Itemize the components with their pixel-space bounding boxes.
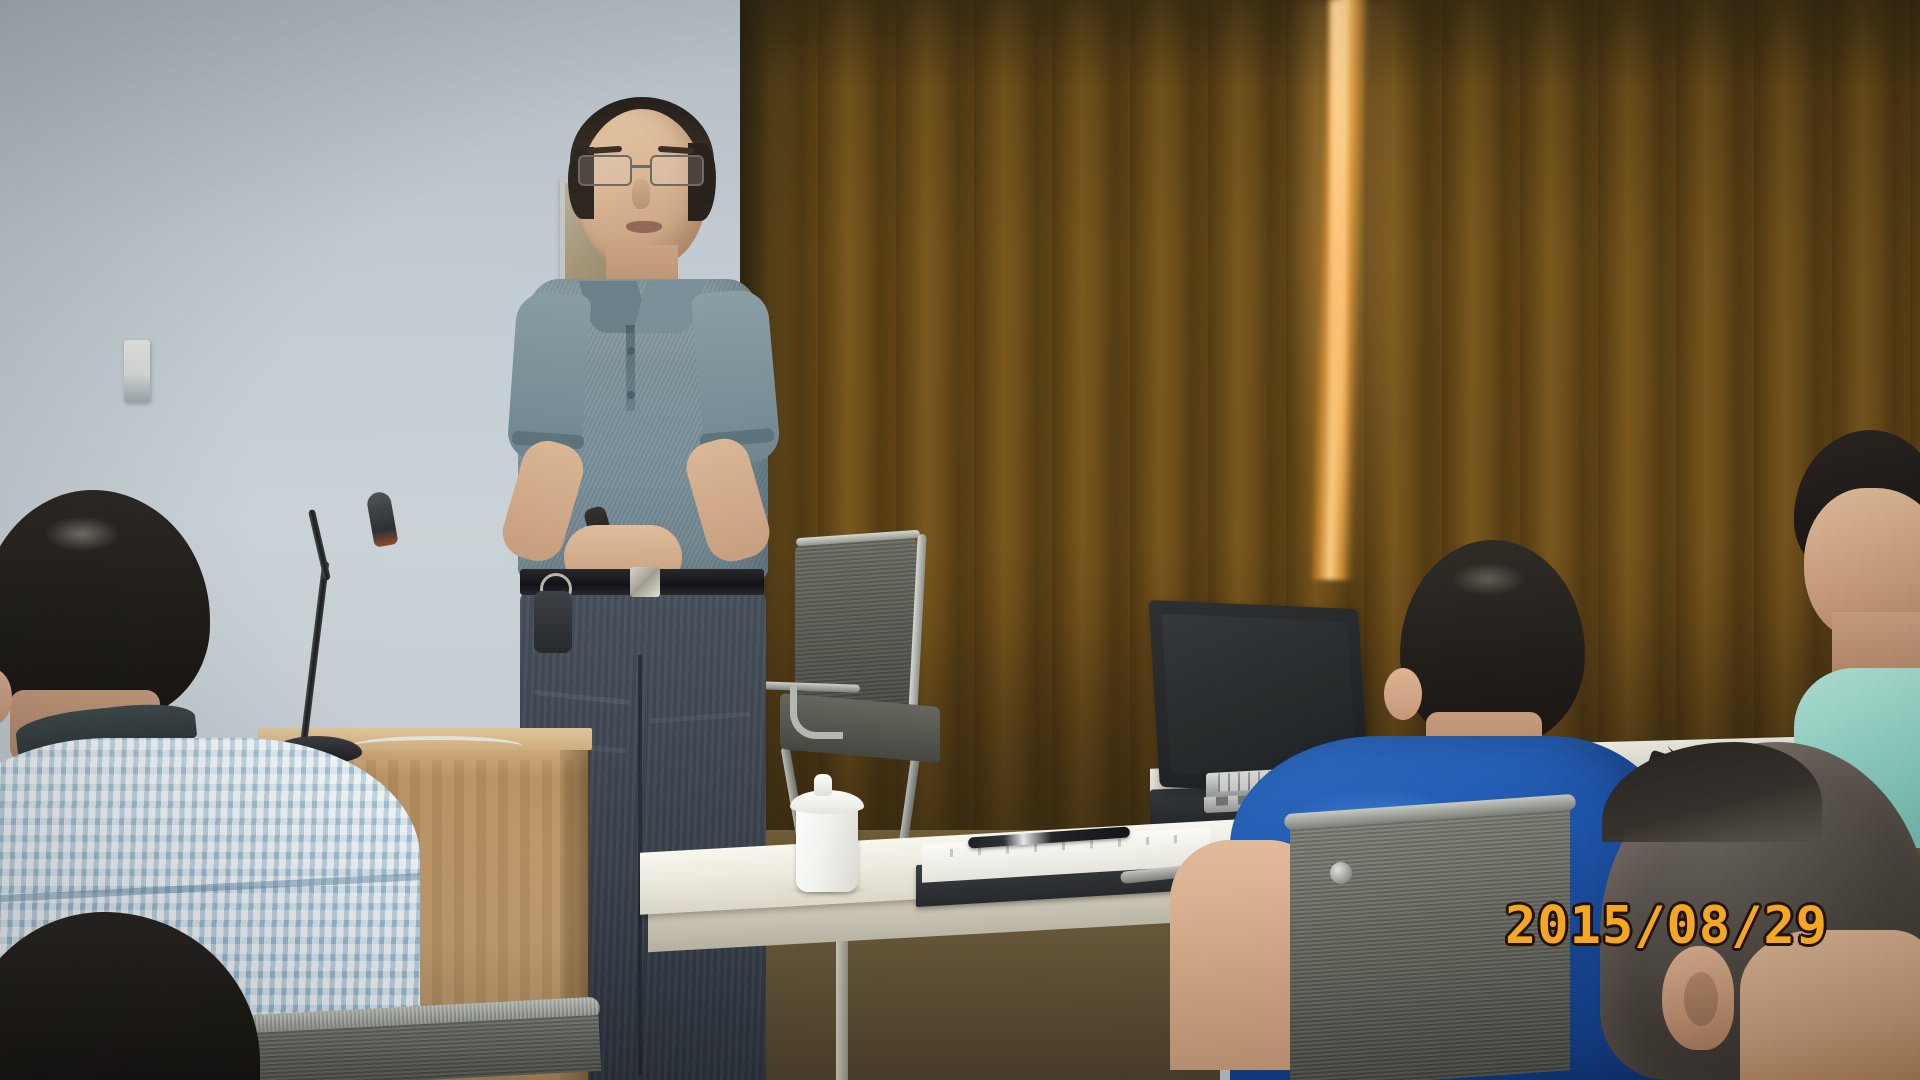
attendee-hair-highlight <box>44 516 120 552</box>
eyeglass-bridge <box>630 165 652 168</box>
table-leg <box>836 930 848 1080</box>
lidded-tea-cup <box>796 806 858 892</box>
wall-switch-fixture <box>124 340 150 402</box>
shirt-button <box>627 391 635 399</box>
presenter-nose <box>632 179 650 209</box>
chair-pivot-knob <box>1330 862 1352 884</box>
sunlight-streak-core <box>1330 0 1346 560</box>
attendee-ear-inner <box>1684 972 1718 1026</box>
shirt-button <box>627 347 635 355</box>
belt-pouch <box>534 591 572 653</box>
camera-date-stamp: 2015/08/29 <box>1505 896 1828 956</box>
eyeglass-lens-right <box>650 155 704 186</box>
presenter-mouth <box>626 221 662 233</box>
eyeglass-lens-left <box>578 155 632 186</box>
tea-cup-knob <box>814 774 832 796</box>
attendee-hair-highlight <box>1450 562 1526 596</box>
photo-canvas: 2015/08/29 <box>0 0 1920 1080</box>
belt-buckle <box>630 567 660 597</box>
attendee-ear <box>1384 668 1422 720</box>
